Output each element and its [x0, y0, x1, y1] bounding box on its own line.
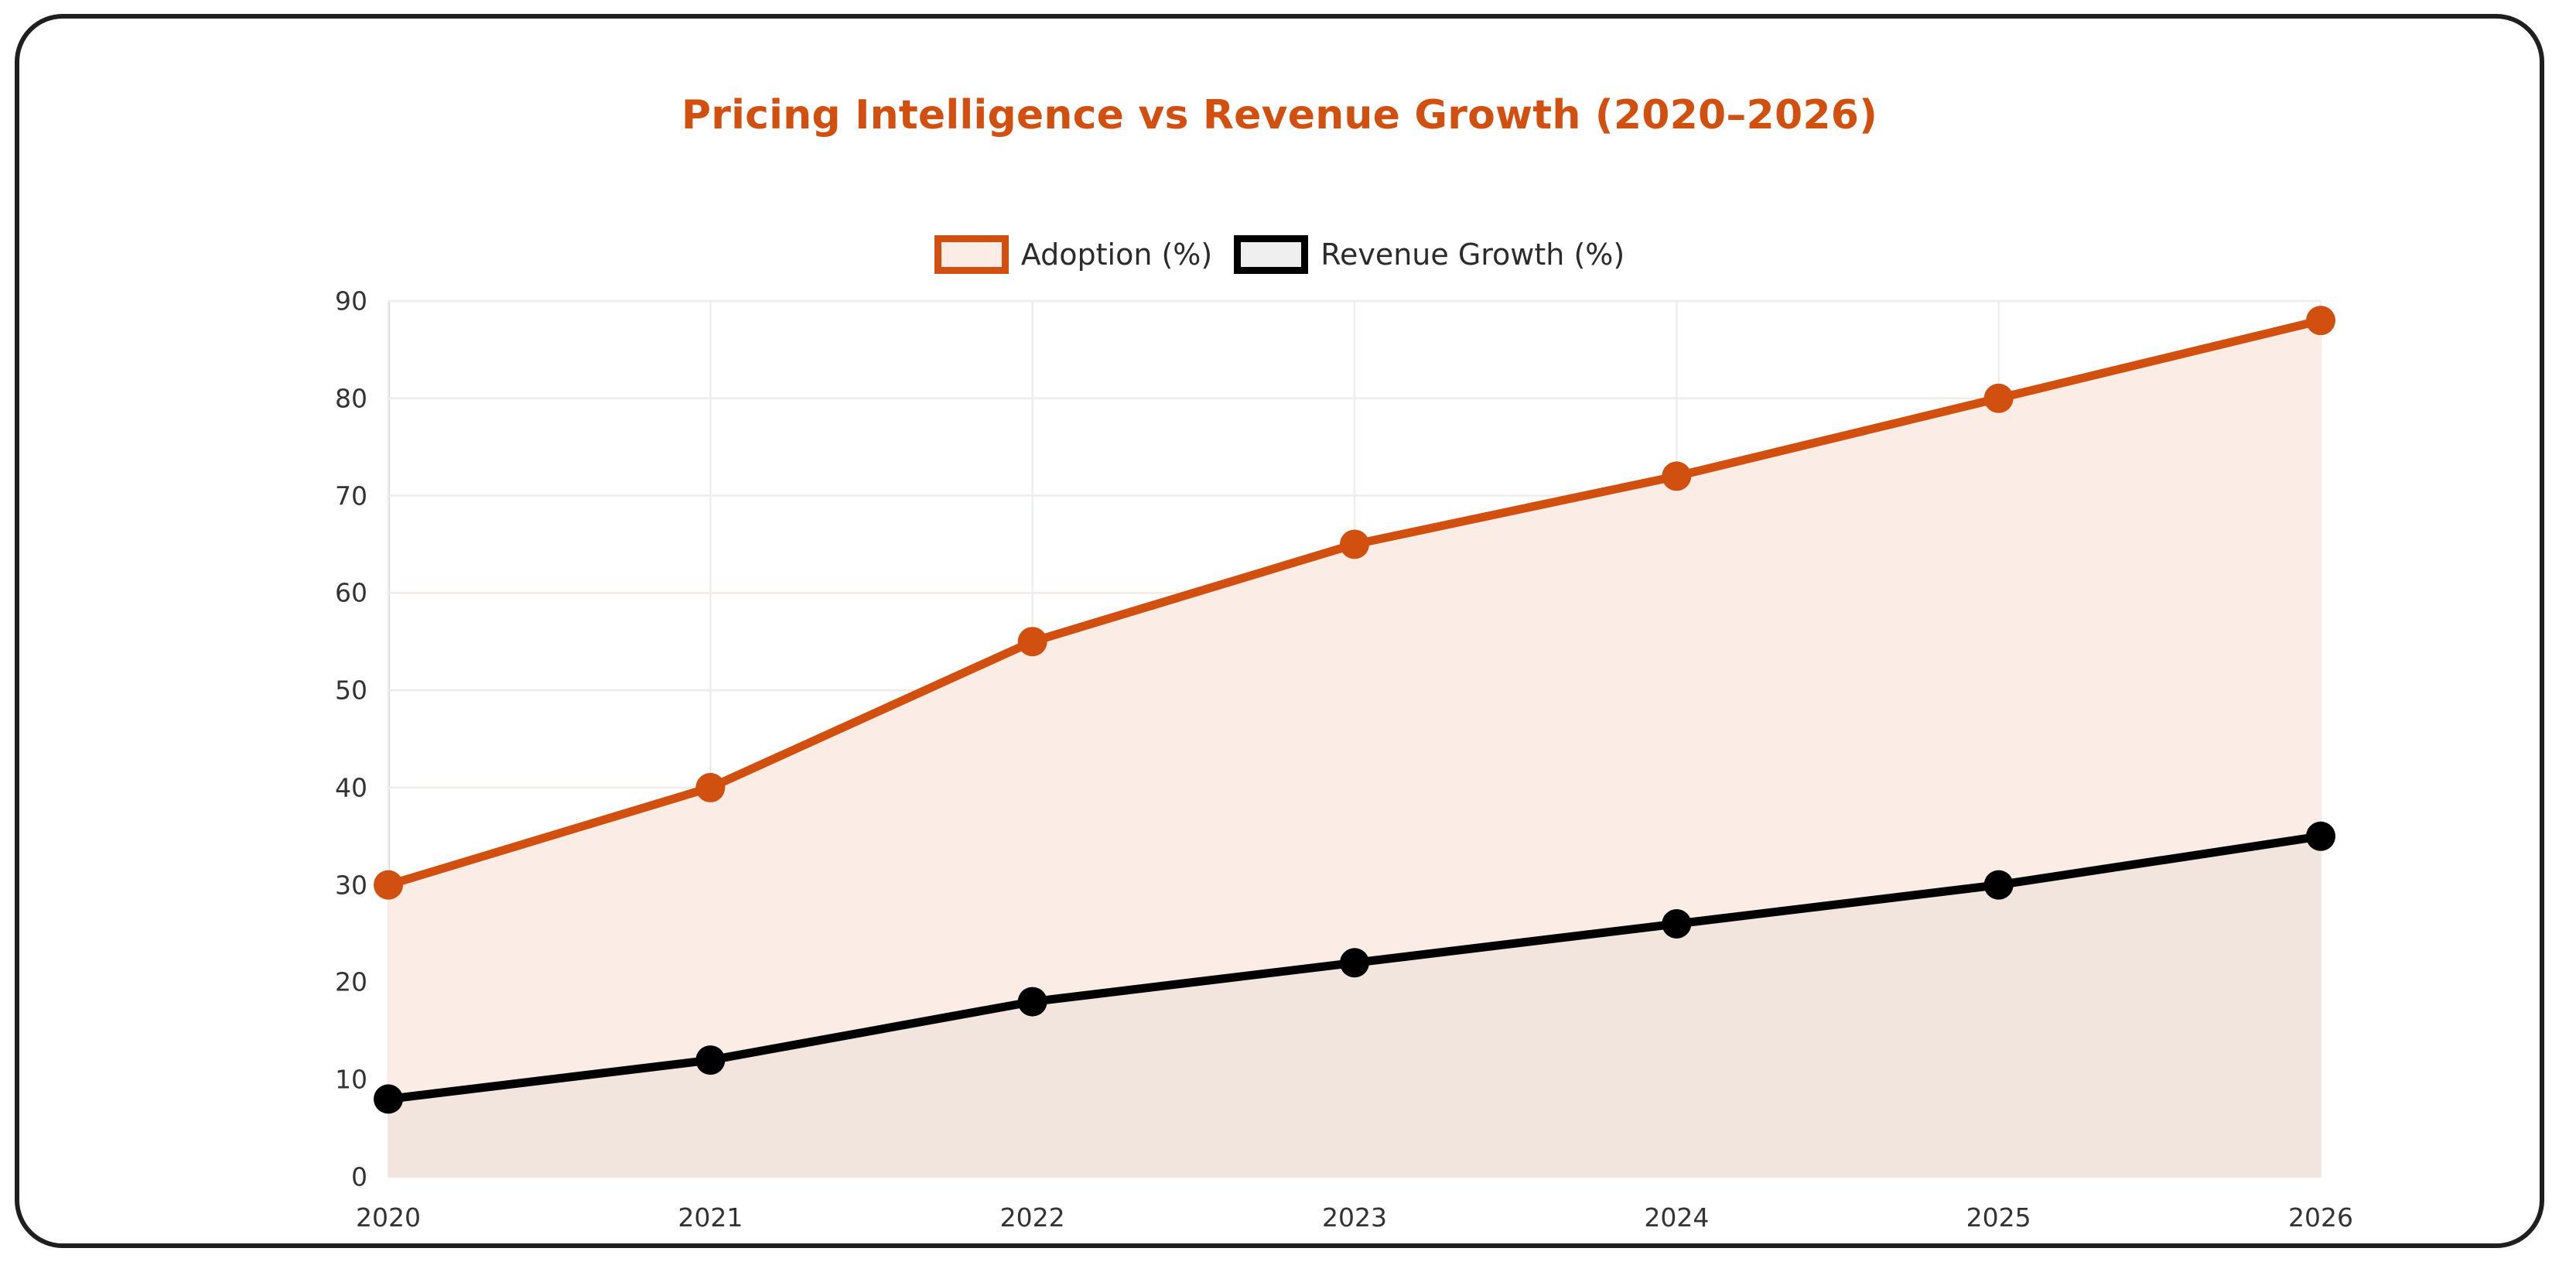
data-point-marker[interactable] [374, 870, 403, 900]
y-axis-tick-labels: 0102030405060708090 [290, 301, 367, 1177]
y-tick-label: 50 [335, 675, 367, 706]
x-tick-label: 2023 [1322, 1202, 1387, 1233]
plot-area [388, 301, 2321, 1177]
data-point-marker[interactable] [1340, 529, 1369, 559]
data-point-marker[interactable] [2306, 306, 2335, 335]
data-point-marker[interactable] [1662, 909, 1691, 939]
chart-legend: Adoption (%) Revenue Growth (%) [19, 235, 2540, 274]
legend-item-revenue-growth[interactable]: Revenue Growth (%) [1234, 235, 1625, 274]
data-point-marker[interactable] [695, 1045, 725, 1075]
legend-label-adoption: Adoption (%) [1021, 238, 1212, 272]
x-tick-label: 2021 [678, 1202, 743, 1233]
x-axis-tick-labels: 2020202120222023202420252026 [388, 1202, 2321, 1241]
x-tick-label: 2025 [1966, 1202, 2031, 1233]
x-tick-label: 2020 [356, 1202, 421, 1233]
y-tick-label: 30 [335, 870, 367, 900]
data-point-marker[interactable] [1984, 870, 2014, 900]
x-tick-label: 2024 [1644, 1202, 1709, 1233]
page-title: Pricing Intelligence vs Revenue Growth (… [19, 92, 2540, 139]
x-tick-label: 2022 [1000, 1202, 1065, 1233]
y-tick-label: 0 [351, 1162, 367, 1192]
legend-swatch-icon-adoption [934, 235, 1009, 274]
y-tick-label: 90 [335, 286, 367, 316]
legend-item-adoption[interactable]: Adoption (%) [934, 235, 1212, 274]
data-point-marker[interactable] [1340, 948, 1369, 977]
data-point-marker[interactable] [695, 773, 725, 802]
data-point-marker[interactable] [1984, 384, 2014, 413]
y-tick-label: 70 [335, 480, 367, 511]
data-point-marker[interactable] [1662, 461, 1691, 491]
y-tick-label: 80 [335, 383, 367, 413]
x-tick-label: 2026 [2288, 1202, 2353, 1233]
y-tick-label: 20 [335, 967, 367, 997]
chart-card: Pricing Intelligence vs Revenue Growth (… [19, 19, 2540, 1243]
legend-swatch-icon-revenue-growth [1234, 235, 1308, 274]
y-tick-label: 40 [335, 772, 367, 802]
data-point-marker[interactable] [1018, 987, 1047, 1017]
data-point-marker[interactable] [2306, 822, 2335, 851]
data-point-marker[interactable] [374, 1084, 403, 1113]
legend-label-revenue-growth: Revenue Growth (%) [1320, 238, 1625, 272]
data-point-marker[interactable] [1018, 627, 1047, 656]
y-tick-label: 10 [335, 1065, 367, 1095]
plot-svg [388, 301, 2321, 1177]
app-frame: Pricing Intelligence vs Revenue Growth (… [15, 14, 2544, 1248]
y-tick-label: 60 [335, 578, 367, 608]
